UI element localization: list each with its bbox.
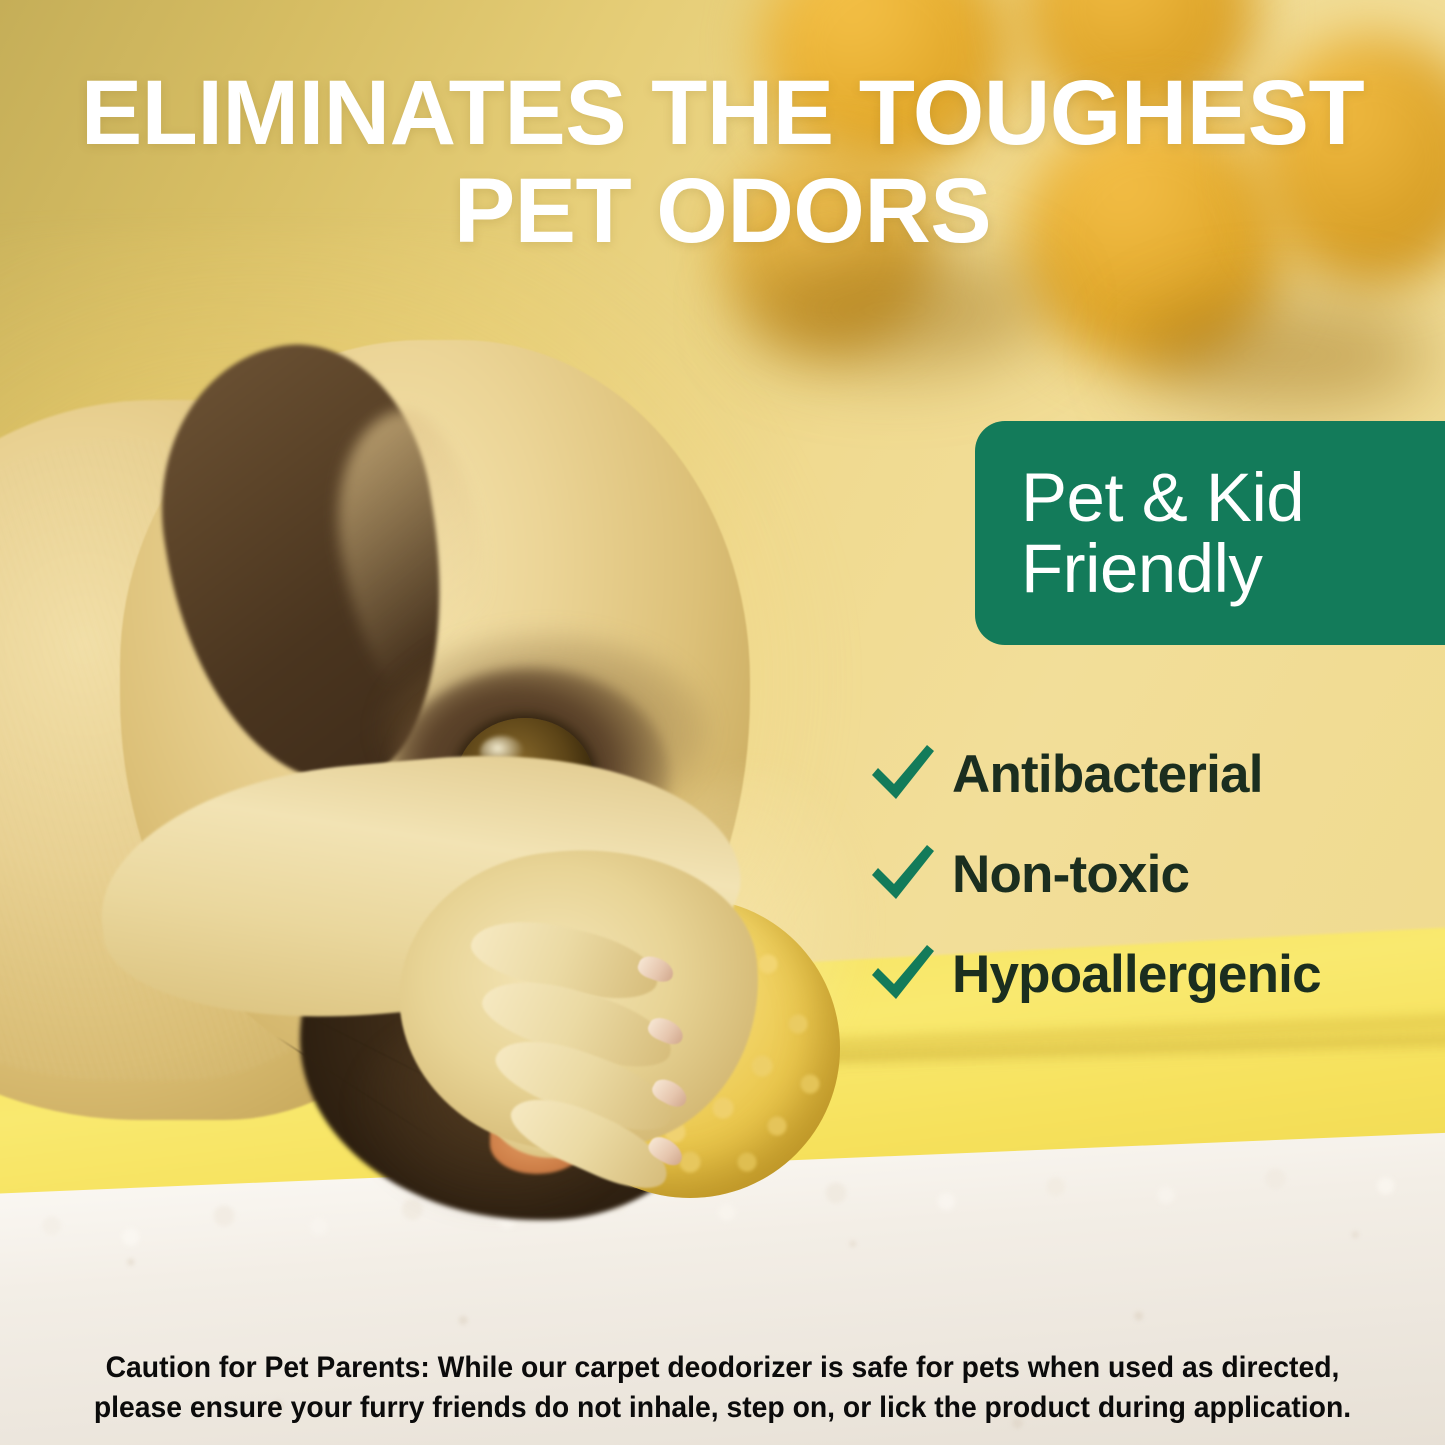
caution-caption: Caution for Pet Parents: While our carpe… [29, 1348, 1416, 1427]
feature-label: Antibacterial [952, 744, 1263, 805]
feature-item-antibacterial: Antibacterial [866, 724, 1445, 824]
feature-list: Antibacterial Non-toxic Hypoallergenic [866, 724, 1445, 1024]
feature-item-non-toxic: Non-toxic [866, 824, 1445, 924]
check-icon [866, 938, 938, 1010]
check-icon [866, 738, 938, 810]
feature-item-hypoallergenic: Hypoallergenic [866, 924, 1445, 1024]
caption-line-1: Caution for Pet Parents: While our carpe… [79, 1348, 1366, 1388]
headline: ELIMINATES THE TOUGHEST PET ODORS [0, 64, 1445, 261]
check-icon [866, 838, 938, 910]
lemon-shadow-2 [1135, 300, 1435, 410]
product-banner: ELIMINATES THE TOUGHEST PET ODORS Pet & … [0, 0, 1445, 1445]
feature-label: Hypoallergenic [952, 944, 1321, 1005]
headline-line-1: ELIMINATES THE TOUGHEST [44, 64, 1401, 162]
caption-line-2: please ensure your furry friends do not … [79, 1388, 1366, 1428]
headline-line-2: PET ODORS [44, 162, 1401, 260]
feature-label: Non-toxic [952, 844, 1189, 905]
badge-label: Pet & Kid Friendly [975, 462, 1304, 604]
pet-kid-friendly-badge: Pet & Kid Friendly [975, 421, 1445, 645]
